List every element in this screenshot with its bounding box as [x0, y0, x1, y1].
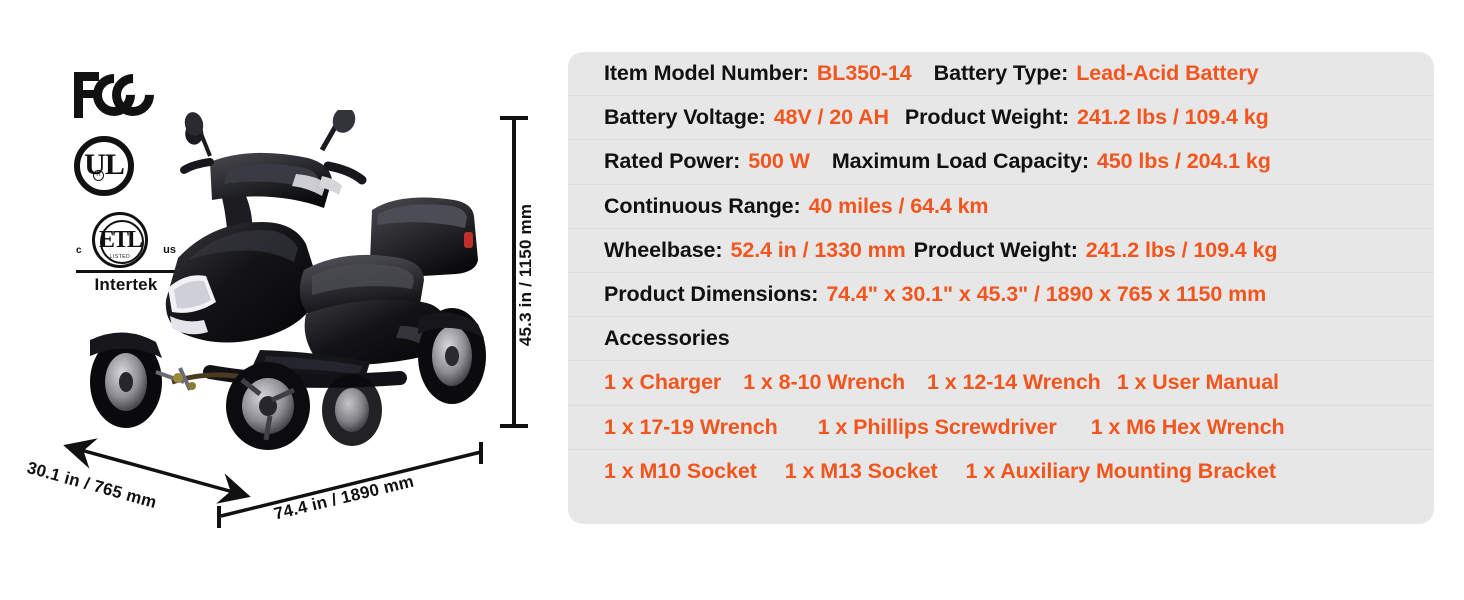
- accessory-item: 1 x 17-19 Wrench: [604, 415, 778, 440]
- spec-value: 450 lbs / 204.1 kg: [1097, 149, 1271, 174]
- spec-row: Wheelbase: 52.4 in / 1330 mm Product Wei…: [568, 229, 1434, 273]
- accessories-heading: Accessories: [604, 326, 730, 351]
- spec-label: Rated Power:: [604, 149, 740, 174]
- accessory-item: 1 x User Manual: [1117, 370, 1279, 395]
- scooter-image: [60, 110, 510, 450]
- spec-value: BL350-14: [817, 61, 912, 86]
- accessories-heading-row: Accessories: [568, 317, 1434, 361]
- spec-value: 500 W: [748, 149, 810, 174]
- accessories-row: 1 x Charger 1 x 8-10 Wrench 1 x 12-14 Wr…: [568, 361, 1434, 405]
- spec-label: Product Dimensions:: [604, 282, 818, 307]
- accessory-item: 1 x Auxiliary Mounting Bracket: [966, 459, 1276, 484]
- spec-label: Product Weight:: [914, 238, 1078, 263]
- spec-row: Battery Voltage: 48V / 20 AH Product Wei…: [568, 96, 1434, 140]
- spec-value: 74.4" x 30.1" x 45.3" / 1890 x 765 x 115…: [826, 282, 1266, 307]
- spec-value: 241.2 lbs / 109.4 kg: [1086, 238, 1278, 263]
- accessory-item: 1 x M6 Hex Wrench: [1091, 415, 1285, 440]
- height-dimension-label: 45.3 in / 1150 mm: [516, 204, 536, 346]
- accessory-item: 1 x Phillips Screwdriver: [818, 415, 1057, 440]
- spec-row: Product Dimensions: 74.4" x 30.1" x 45.3…: [568, 273, 1434, 317]
- height-dim-cap-bottom: [500, 424, 528, 428]
- spec-value: Lead-Acid Battery: [1076, 61, 1258, 86]
- spec-label: Wheelbase:: [604, 238, 722, 263]
- spec-label: Battery Type:: [934, 61, 1069, 86]
- spec-value: 241.2 lbs / 109.4 kg: [1077, 105, 1269, 130]
- spec-value: 48V / 20 AH: [774, 105, 889, 130]
- spec-row: Item Model Number: BL350-14 Battery Type…: [568, 52, 1434, 96]
- product-illustration-area: UL R ETL LISTED c us Intertek: [0, 0, 560, 600]
- spec-value: 52.4 in / 1330 mm: [730, 238, 905, 263]
- accessories-row: 1 x 17-19 Wrench 1 x Phillips Screwdrive…: [568, 406, 1434, 450]
- spec-label: Maximum Load Capacity:: [832, 149, 1089, 174]
- accessory-item: 1 x 12-14 Wrench: [927, 370, 1101, 395]
- accessory-item: 1 x M10 Socket: [604, 459, 757, 484]
- accessories-row: 1 x M10 Socket 1 x M13 Socket 1 x Auxili…: [568, 450, 1434, 494]
- accessory-item: 1 x 8-10 Wrench: [743, 370, 905, 395]
- spec-row: Continuous Range: 40 miles / 64.4 km: [568, 185, 1434, 229]
- specifications-panel: Item Model Number: BL350-14 Battery Type…: [568, 52, 1434, 524]
- spec-value: 40 miles / 64.4 km: [809, 194, 989, 219]
- spec-row: Rated Power: 500 W Maximum Load Capacity…: [568, 140, 1434, 184]
- accessory-item: 1 x M13 Socket: [785, 459, 938, 484]
- spec-label: Continuous Range:: [604, 194, 801, 219]
- spec-label: Product Weight:: [905, 105, 1069, 130]
- accessory-item: 1 x Charger: [604, 370, 721, 395]
- spec-label: Battery Voltage:: [604, 105, 766, 130]
- product-spec-infographic: UL R ETL LISTED c us Intertek: [0, 0, 1464, 600]
- spec-label: Item Model Number:: [604, 61, 809, 86]
